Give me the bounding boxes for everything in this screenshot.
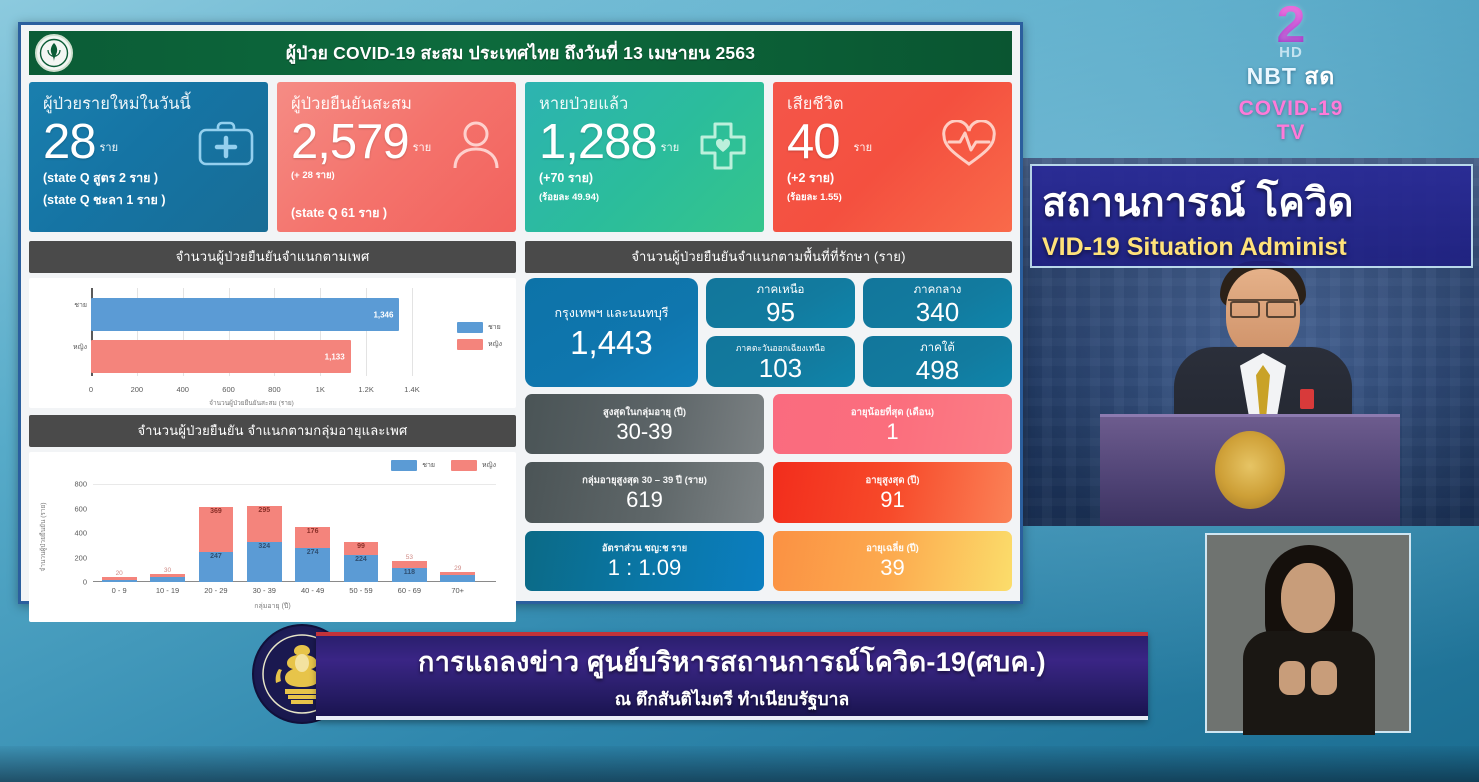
gender-legend-male: ชาย xyxy=(457,322,502,333)
stat-value-min-age: 1 xyxy=(886,420,898,444)
kpi-card-deaths: เสียชีวิต 40 ราย (+2 ราย) (ร้อยละ 1.55) xyxy=(773,82,1012,232)
slide-title: ผู้ป่วย COVID-19 สะสม ประเทศไทย ถึงวันที… xyxy=(286,39,755,67)
gender-bar-female: 1,133 xyxy=(91,340,351,373)
region-column-north: ภาคเหนือ 95 ภาคตะวันออกเฉียงเหนือ 103 xyxy=(706,278,855,387)
gender-xtick-0: 0 xyxy=(89,385,93,394)
banner-line-1: การแถลงข่าว ศูนย์บริหารสถานการณ์โควิด-19… xyxy=(418,640,1046,683)
slide-header: ผู้ป่วย COVID-19 สะสม ประเทศไทย ถึงวันที… xyxy=(29,31,1012,75)
age-legend: ชาย หญิง xyxy=(391,460,496,471)
age-bar-30-39-female: 295 xyxy=(247,506,282,542)
ministry-of-public-health-logo-icon xyxy=(35,34,73,72)
sign-language-interpreter-window xyxy=(1205,533,1411,733)
stat-label-max-age: อายุสูงสุด (ปี) xyxy=(865,473,919,488)
kpi-label-deaths: เสียชีวิต xyxy=(787,91,998,117)
region-column-central: ภาคกลาง 340 ภาคใต้ 498 xyxy=(863,278,1012,387)
age-bar-60-69-female: 53 xyxy=(392,561,427,568)
age-bar-30-39-male: 324 xyxy=(247,542,282,582)
stat-card-max-age: อายุสูงสุด (ปี) 91 xyxy=(773,462,1012,522)
age-bar-0-9-male xyxy=(102,580,137,582)
region-value-south: 498 xyxy=(916,357,959,384)
kpi-unit-recovered: ราย xyxy=(657,138,680,166)
program-title-english: VID-19 Situation Administ xyxy=(1042,233,1347,262)
charts-column: จำนวนผู้ป่วยยืนยันจำแนกตามเพศ ชาย หญิง xyxy=(29,241,516,591)
kpi-sub2-recovered: (ร้อยละ 49.94) xyxy=(539,190,750,205)
region-value-central: 340 xyxy=(916,299,959,326)
gender-chart-section: จำนวนผู้ป่วยยืนยันจำแนกตามเพศ ชาย หญิง xyxy=(29,241,516,408)
channel-hd-label: HD xyxy=(1231,46,1351,60)
kpi-value-confirmed: 2,579 xyxy=(291,119,409,166)
region-card-south: ภาคใต้ 498 xyxy=(863,336,1012,386)
age-legend-male: ชาย xyxy=(391,460,435,471)
age-legend-label-male: ชาย xyxy=(422,460,435,471)
age-chart-title: จำนวนผู้ป่วยยืนยัน จำแนกตามกลุ่มอายุและเ… xyxy=(29,415,516,447)
age-sex-chart: ชาย หญิง จำนวนผู้ป่วยยืนยัน (ราย) xyxy=(29,452,516,622)
age-bar-30-39-female-value: 295 xyxy=(247,507,282,514)
gender-xtick-6: 1.2K xyxy=(358,385,373,394)
gender-chart-title: จำนวนผู้ป่วยยืนยันจำแนกตามเพศ xyxy=(29,241,516,273)
age-bar-70plus-female: 29 xyxy=(440,572,475,576)
gender-x-axis-label: จำนวนผู้ป่วยยืนยันสะสม (ราย) xyxy=(91,398,412,408)
kpi-sub2-deaths: (ร้อยละ 1.55) xyxy=(787,190,998,205)
summary-stats-right: อายุน้อยที่สุด (เดือน) 1 อายุสูงสุด (ปี)… xyxy=(773,394,1012,591)
region-value-north: 95 xyxy=(766,299,795,326)
stat-card-min-age: อายุน้อยที่สุด (เดือน) 1 xyxy=(773,394,1012,454)
region-value-northeast: 103 xyxy=(759,355,802,382)
medical-kit-icon xyxy=(198,120,254,168)
stat-value-top-age-group-count: 619 xyxy=(626,488,663,512)
presenter-video: สถานการณ์ โควิด VID-19 Situation Adminis… xyxy=(1018,158,1479,526)
age-bar-40-49: 274 176 40 - 49 xyxy=(295,527,330,582)
region-card-bangkok: กรุงเทพฯ และนนทบุรี 1,443 xyxy=(525,278,698,387)
gender-cat-male: ชาย xyxy=(37,300,87,311)
summary-stats-left: สูงสุดในกลุ่มอายุ (ปี) 30-39 กลุ่มอายุสู… xyxy=(525,394,764,591)
legend-swatch-male-icon xyxy=(457,322,483,333)
stat-label-sex-ratio: อัตราส่วน ชญ:ช ราย xyxy=(602,541,687,556)
stat-card-median-age: อายุเฉลี่ย (ปี) 39 xyxy=(773,531,1012,591)
stat-value-sex-ratio: 1 : 1.09 xyxy=(608,556,681,580)
kpi-row: ผู้ป่วยรายใหม่ในวันนี้ 28 ราย (state Q ส… xyxy=(29,82,1012,232)
kpi-card-confirmed: ผู้ป่วยยืนยันสะสม 2,579 ราย (+ 28 ราย) (… xyxy=(277,82,516,232)
speaker-glasses xyxy=(1228,299,1298,313)
age-y-axis-label: จำนวนผู้ป่วยยืนยัน (ราย) xyxy=(38,503,48,572)
lower-third-banner: การแถลงข่าว ศูนย์บริหารสถานการณ์โควิด-19… xyxy=(238,620,1148,730)
kpi-sub1-deaths: (+2 ราย) xyxy=(787,168,998,188)
region-value-bangkok: 1,443 xyxy=(570,324,653,362)
age-cat-50-59: 50 - 59 xyxy=(336,586,387,595)
kpi-unit-deaths: ราย xyxy=(840,138,873,166)
age-cat-40-49: 40 - 49 xyxy=(287,586,338,595)
channel-number: 2 xyxy=(1231,2,1351,50)
age-bar-0-9-female: 20 xyxy=(102,577,137,579)
age-bar-60-69: 118 53 60 - 69 xyxy=(392,561,427,582)
age-bar-60-69-male-value: 118 xyxy=(392,569,427,576)
kpi-card-recovered: หายป่วยแล้ว 1,288 ราย (+70 ราย) (ร้อยละ … xyxy=(525,82,764,232)
age-ytick-3: 600 xyxy=(74,504,87,513)
kpi-card-new-cases: ผู้ป่วยรายใหม่ในวันนี้ 28 ราย (state Q ส… xyxy=(29,82,268,232)
age-bar-20-29-male: 247 xyxy=(199,552,234,582)
channel-logo: 2 HD NBT สด COVID-19 TV xyxy=(1231,2,1351,145)
podium xyxy=(1100,414,1400,526)
stat-card-sex-ratio: อัตราส่วน ชญ:ช ราย 1 : 1.09 xyxy=(525,531,764,591)
channel-name-text: NBT xyxy=(1247,63,1297,89)
region-card-northeast: ภาคตะวันออกเฉียงเหนือ 103 xyxy=(706,336,855,386)
gender-chart: ชาย หญิง 1,346 1, xyxy=(29,278,516,408)
stat-label-min-age: อายุน้อยที่สุด (เดือน) xyxy=(851,405,934,420)
slide-body: จำนวนผู้ป่วยยืนยันจำแนกตามเพศ ชาย หญิง xyxy=(29,241,1012,591)
interpreter-left-hand xyxy=(1279,661,1305,695)
age-bar-10-19: 30 10 - 19 xyxy=(150,574,185,582)
gender-bar-male: 1,346 xyxy=(91,298,399,331)
age-bar-70plus-male xyxy=(440,575,475,582)
age-bar-70plus-female-value: 29 xyxy=(434,565,481,572)
kpi-label-new-cases: ผู้ป่วยรายใหม่ในวันนี้ xyxy=(43,91,254,117)
stat-card-top-age-group: สูงสุดในกลุ่มอายุ (ปี) 30-39 xyxy=(525,394,764,454)
channel-name: NBT สด xyxy=(1231,59,1351,95)
age-cat-10-19: 10 - 19 xyxy=(142,586,193,595)
garuda-emblem-icon xyxy=(1215,431,1285,509)
cross-heart-icon xyxy=(696,120,750,172)
live-badge: สด xyxy=(1304,63,1335,89)
kpi-value-new-cases: 28 xyxy=(43,119,96,166)
age-ytick-4: 800 xyxy=(74,480,87,489)
age-cat-70plus: 70+ xyxy=(432,586,483,595)
age-legend-label-female: หญิง xyxy=(482,460,496,471)
regions-column: จำนวนผู้ป่วยยืนยันจำแนกตามพื้นที่ที่รักษ… xyxy=(525,241,1012,591)
age-bar-70plus: 29 70+ xyxy=(440,572,475,582)
covid-statistics-slide: ผู้ป่วย COVID-19 สะสม ประเทศไทย ถึงวันที… xyxy=(18,22,1023,604)
age-legend-female: หญิง xyxy=(451,460,496,471)
kpi-label-confirmed: ผู้ป่วยยืนยันสะสม xyxy=(291,91,502,117)
region-label-north: ภาคเหนือ xyxy=(756,281,804,299)
age-bar-50-59-male-value: 224 xyxy=(344,556,379,563)
interpreter-right-hand xyxy=(1311,661,1337,695)
age-bar-40-49-male-value: 274 xyxy=(295,549,330,556)
age-bar-30-39: 324 295 30 - 39 xyxy=(247,506,282,582)
banner-text-bar: การแถลงข่าว ศูนย์บริหารสถานการณ์โควิด-19… xyxy=(316,632,1148,720)
region-card-north: ภาคเหนือ 95 xyxy=(706,278,855,328)
kpi-value-deaths: 40 xyxy=(787,119,840,166)
kpi-sub1-new-cases: (state Q สูตร 2 ราย ) xyxy=(43,168,254,188)
gender-legend: ชาย หญิง xyxy=(457,322,502,356)
region-label-bangkok: กรุงเทพฯ และนนทบุรี xyxy=(554,303,668,323)
legend-swatch-female-icon xyxy=(457,339,483,350)
heartbeat-icon xyxy=(940,120,998,168)
age-plot-area: 0 200 400 600 800 20 0 - 9 xyxy=(93,484,496,582)
interpreter-face xyxy=(1281,563,1335,633)
stat-value-top-age-group: 30-39 xyxy=(616,420,672,444)
age-bar-40-49-female: 176 xyxy=(295,527,330,549)
kpi-unit-confirmed: ราย xyxy=(409,138,432,166)
age-cat-30-39: 30 - 39 xyxy=(239,586,290,595)
age-bar-10-19-female: 30 xyxy=(150,574,185,578)
region-section-title: จำนวนผู้ป่วยยืนยันจำแนกตามพื้นที่ที่รักษ… xyxy=(525,241,1012,273)
region-label-central: ภาคกลาง xyxy=(914,281,962,299)
gender-plot-area: 1,346 1,133 0 200 400 600 800 1K 1.2K xyxy=(91,292,412,376)
gender-xtick-4: 800 xyxy=(268,385,281,394)
age-bar-50-59: 224 99 50 - 59 xyxy=(344,542,379,582)
age-ytick-0: 0 xyxy=(83,578,87,587)
age-bar-20-29: 247 369 20 - 29 xyxy=(199,507,234,582)
program-title-band: สถานการณ์ โควิด VID-19 Situation Adminis… xyxy=(1030,164,1473,268)
kpi-sub1-confirmed: (+ 28 ราย) xyxy=(291,168,502,183)
age-bar-10-19-female-value: 30 xyxy=(144,567,191,574)
person-icon xyxy=(450,120,502,170)
gender-cat-female: หญิง xyxy=(37,342,87,353)
gender-xtick-2: 400 xyxy=(176,385,189,394)
region-card-central: ภาคกลาง 340 xyxy=(863,278,1012,328)
stat-value-max-age: 91 xyxy=(880,488,904,512)
age-cat-20-29: 20 - 29 xyxy=(191,586,242,595)
age-bar-60-69-male: 118 xyxy=(392,568,427,582)
legend-swatch-male-icon xyxy=(391,460,417,471)
gender-legend-female: หญิง xyxy=(457,339,502,350)
speaker-badge xyxy=(1300,389,1314,409)
age-ytick-2: 400 xyxy=(74,529,87,538)
kpi-value-recovered: 1,288 xyxy=(539,119,657,166)
age-cat-0-9: 0 - 9 xyxy=(94,586,145,595)
stat-label-top-age-group: สูงสุดในกลุ่มอายุ (ปี) xyxy=(603,405,686,420)
kpi-unit-new-cases: ราย xyxy=(96,138,119,166)
age-bar-20-29-female-value: 369 xyxy=(199,508,234,515)
age-bar-0-9: 20 0 - 9 xyxy=(102,577,137,582)
age-bar-40-49-female-value: 176 xyxy=(295,528,330,535)
gender-xtick-5: 1K xyxy=(316,385,325,394)
age-bar-20-29-female: 369 xyxy=(199,507,234,552)
banner-line-2: ณ ตึกสันติไมตรี ทำเนียบรัฐบาล xyxy=(615,685,849,713)
stat-value-median-age: 39 xyxy=(880,556,904,580)
age-bar-60-69-female-value: 53 xyxy=(386,554,433,561)
gender-xtick-3: 600 xyxy=(222,385,235,394)
gender-xtick-1: 200 xyxy=(131,385,144,394)
stat-card-top-age-group-count: กลุ่มอายุสูงสุด 30 – 39 ปี (ราย) 619 xyxy=(525,462,764,522)
age-bar-10-19-male xyxy=(150,577,185,582)
kpi-sub2-new-cases: (state Q ชะลา 1 ราย ) xyxy=(43,190,254,210)
legend-label-male: ชาย xyxy=(488,322,501,333)
age-ytick-1: 200 xyxy=(74,553,87,562)
kpi-sub2-confirmed: (state Q 61 ราย ) xyxy=(291,203,502,223)
program-title-thai: สถานการณ์ โควิด xyxy=(1042,170,1354,234)
gender-bar-female-value: 1,133 xyxy=(325,352,345,361)
age-cat-60-69: 60 - 69 xyxy=(384,586,435,595)
age-bar-30-39-male-value: 324 xyxy=(247,543,282,550)
age-bar-50-59-female-value: 99 xyxy=(344,543,379,550)
gender-bar-male-value: 1,346 xyxy=(373,310,393,319)
interpreter-body xyxy=(1243,631,1375,735)
region-section: จำนวนผู้ป่วยยืนยันจำแนกตามพื้นที่ที่รักษ… xyxy=(525,241,1012,387)
age-bar-50-59-male: 224 xyxy=(344,555,379,582)
kpi-label-recovered: หายป่วยแล้ว xyxy=(539,91,750,117)
gender-xtick-7: 1.4K xyxy=(404,385,419,394)
stat-label-median-age: อายุเฉลี่ย (ปี) xyxy=(866,541,919,556)
age-bar-40-49-male: 274 xyxy=(295,548,330,582)
age-bar-0-9-female-value: 20 xyxy=(96,570,143,577)
summary-stats-section: สูงสุดในกลุ่มอายุ (ปี) 30-39 กลุ่มอายุสู… xyxy=(525,394,1012,591)
covid-tv-label: COVID-19 TV xyxy=(1231,97,1351,145)
legend-swatch-female-icon xyxy=(451,460,477,471)
age-chart-section: จำนวนผู้ป่วยยืนยัน จำแนกตามกลุ่มอายุและเ… xyxy=(29,415,516,622)
age-bar-20-29-male-value: 247 xyxy=(199,553,234,560)
stat-label-top-age-group-count: กลุ่มอายุสูงสุด 30 – 39 ปี (ราย) xyxy=(582,473,707,488)
age-bar-50-59-female: 99 xyxy=(344,542,379,554)
legend-label-female: หญิง xyxy=(488,339,502,350)
age-x-axis-label: กลุ่มอายุ (ปี) xyxy=(37,601,508,612)
